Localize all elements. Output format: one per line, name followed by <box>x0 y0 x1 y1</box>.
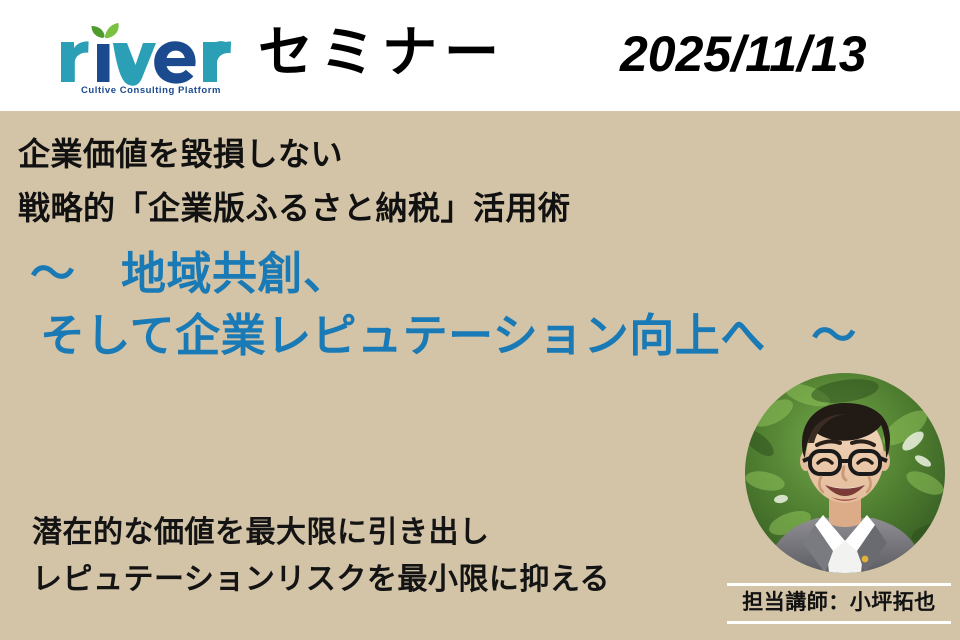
speaker-portrait-image <box>745 373 945 573</box>
logo-tagline: Cultive Consulting Platform <box>81 85 221 96</box>
speaker-portrait <box>745 373 945 573</box>
subtitle: ～ 地域共創、 そして企業レピュテーション向上へ ～ <box>30 243 930 367</box>
river-wordmark-icon <box>57 22 242 86</box>
speaker-name-badge: 担当講師：小坪拓也 <box>727 583 951 624</box>
main-title: 企業価値を毀損しない 戦略的「企業版ふるさと納税」活用術 <box>18 127 738 235</box>
seminar-date: 2025/11/13 <box>620 24 867 84</box>
seminar-heading: セミナー <box>258 21 506 83</box>
header-band: Cultive Consulting Platform セミナー 2025/11… <box>0 0 960 111</box>
subtitle-line-2: そして企業レピュテーション向上へ ～ <box>40 305 930 367</box>
subtitle-line-1: ～ 地域共創、 <box>30 243 930 305</box>
poster-body: 企業価値を毀損しない 戦略的「企業版ふるさと納税」活用術 ～ 地域共創、 そして… <box>0 111 960 640</box>
value-tagline-line-2: レピュテーションリスクを最小限に抑える <box>32 556 732 603</box>
river-logo: Cultive Consulting Platform <box>57 22 242 106</box>
main-title-line-1: 企業価値を毀損しない <box>18 127 738 181</box>
speaker-name-text: 担当講師：小坪拓也 <box>727 589 951 617</box>
value-tagline: 潜在的な価値を最大限に引き出し レピュテーションリスクを最小限に抑える <box>32 509 732 603</box>
value-tagline-line-1: 潜在的な価値を最大限に引き出し <box>32 509 732 556</box>
main-title-line-2: 戦略的「企業版ふるさと納税」活用術 <box>18 181 738 235</box>
